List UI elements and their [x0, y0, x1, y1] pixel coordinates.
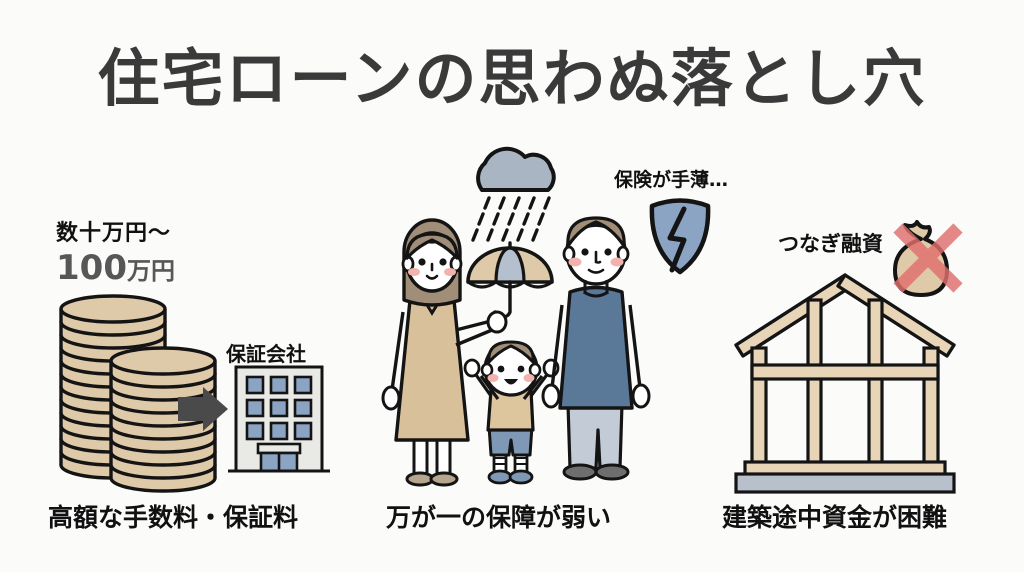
family-father-icon	[543, 218, 649, 479]
umbrella-icon	[468, 243, 552, 317]
caption-coverage: 万が一の保障が弱い	[386, 498, 611, 534]
amount-max-label: 100万円	[56, 248, 175, 288]
infographic-slide: 住宅ローンの思わぬ落とし穴	[0, 0, 1024, 572]
amount-range-label: 数十万円〜	[56, 215, 171, 247]
house-frame-icon	[736, 275, 954, 492]
family-child-icon	[465, 342, 558, 483]
bridge-loan-label: つなぎ融資	[778, 228, 883, 258]
caption-bridge-loan: 建築途中資金が困難	[722, 498, 947, 534]
caption-fees: 高額な手数料・保証料	[48, 498, 298, 534]
broken-shield-icon	[652, 201, 708, 273]
rain-cloud-icon	[473, 149, 554, 240]
amount-max-number: 100	[56, 248, 127, 288]
insurance-thin-label: 保険が手薄…	[614, 165, 728, 192]
guarantor-company-label: 保証会社	[226, 338, 306, 367]
coin-stack-icon	[61, 296, 215, 491]
amount-max-suffix: 万円	[127, 257, 175, 285]
office-building-icon	[228, 367, 330, 471]
